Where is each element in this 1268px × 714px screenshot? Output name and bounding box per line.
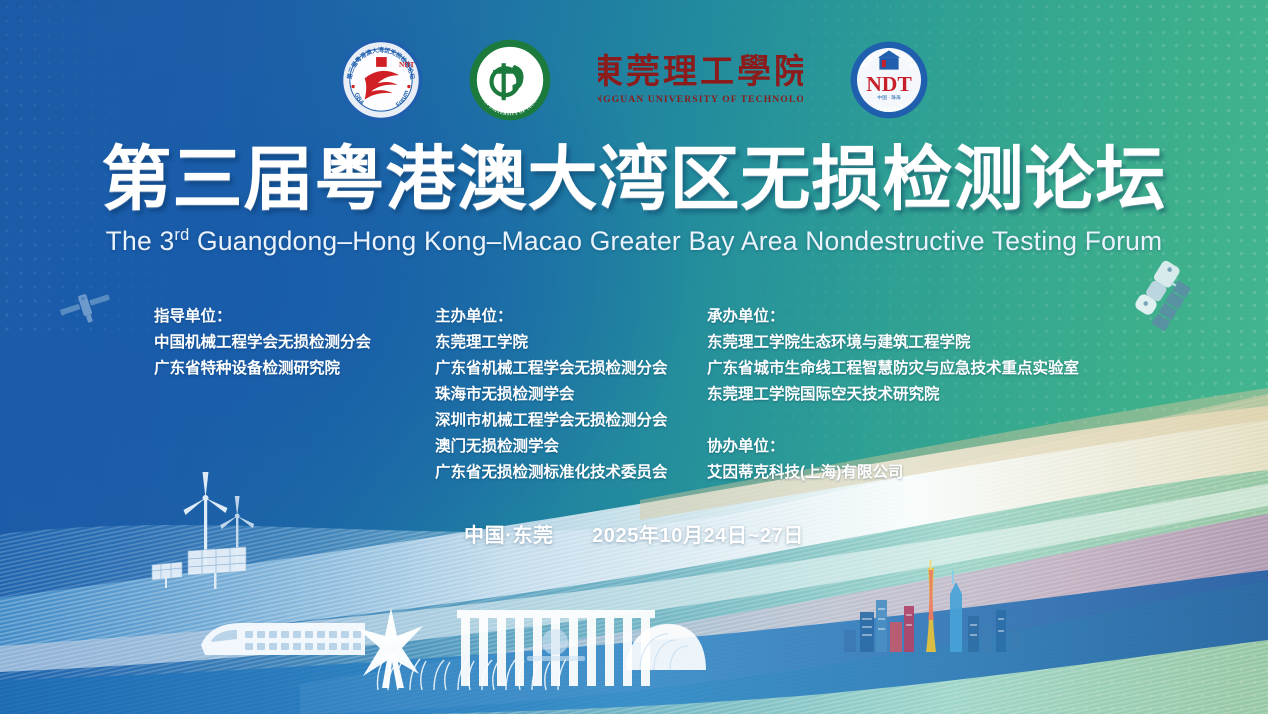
solar-panel-icon — [150, 545, 260, 595]
forum-poster: 第三届粤港澳大湾区无损检测论坛 NDT GBA Forum — [0, 0, 1268, 714]
host-item: 广东省机械工程学会无损检测分会 — [435, 356, 668, 382]
page-title-en: The 3rd Guangdong–Hong Kong–Macao Greate… — [0, 226, 1268, 257]
high-speed-train-icon — [195, 615, 370, 665]
page-title-cn: 第三届粤港澳大湾区无损检测论坛 — [0, 140, 1268, 218]
guidance-item: 中国机械工程学会无损检测分会 — [154, 330, 371, 356]
satellite-icon-right — [1108, 244, 1204, 336]
coorganizer-item: 艾因蒂克科技(上海)有限公司 — [707, 460, 1079, 486]
reeds-decoration — [370, 650, 570, 690]
title-en-ordinal: rd — [174, 227, 189, 245]
logo-gba-ndt-forum: 第三届粤港澳大湾区无损检测论坛 NDT GBA Forum — [340, 39, 422, 121]
title-en-rest: Guangdong–Hong Kong–Macao Greater Bay Ar… — [189, 226, 1162, 256]
svg-text:DONGGUAN UNIVERSITY OF TECHNOL: DONGGUAN UNIVERSITY OF TECHNOLOGY — [598, 94, 803, 105]
column-spacer — [707, 408, 1079, 434]
guidance-heading: 指导单位： — [154, 304, 371, 330]
organizer-item: 东莞理工学院生态环境与建筑工程学院 — [707, 330, 1079, 356]
logo-row: 第三届粤港澳大湾区无损检测论坛 NDT GBA Forum — [0, 36, 1268, 124]
event-location: 中国·东莞 — [464, 525, 554, 547]
event-dates: 2025年10月24日~27日 — [592, 525, 804, 547]
organizer-item: 东莞理工学院国际空天技术研究院 — [707, 382, 1079, 408]
organizer-item: 广东省城市生命线工程智慧防灾与应急技术重点实验室 — [707, 356, 1079, 382]
dgut-seal-icon: 东莞理工学院 DONGGUAN UNIVERSITY OF TECHNOLOGY — [468, 38, 552, 122]
host-item: 广东省无损检测标准化技术委员会 — [435, 460, 668, 486]
zhsndt-seal-icon: 珠海市无损检测学会 ZHSNDT NDT 中国 · 珠海 — [849, 40, 929, 120]
host-item: 东莞理工学院 — [435, 330, 668, 356]
organizations-column-guidance: 指导单位： 中国机械工程学会无损检测分会 广东省特种设备检测研究院 — [154, 304, 371, 382]
host-heading: 主办单位： — [435, 304, 668, 330]
satellite-icon-left — [52, 276, 118, 338]
organizations-column-host: 主办单位： 东莞理工学院 广东省机械工程学会无损检测分会 珠海市无损检测学会 深… — [435, 304, 668, 486]
architecture-silhouette — [455, 610, 685, 688]
city-skyline-silhouette — [838, 560, 1028, 655]
logo-dgut-seal: 东莞理工学院 DONGGUAN UNIVERSITY OF TECHNOLOGY — [468, 38, 552, 122]
dgut-wordmark-icon: 東莞理工學院 DONGGUAN UNIVERSITY OF TECHNOLOGY — [598, 49, 803, 111]
host-item: 澳门无损检测学会 — [435, 434, 668, 460]
host-item: 深圳市机械工程学会无损检测分会 — [435, 408, 668, 434]
coorganizer-heading: 协办单位： — [707, 434, 1079, 460]
title-en-prefix: The 3 — [106, 226, 175, 256]
opera-house-silhouette — [620, 620, 710, 670]
svg-text:東莞理工學院: 東莞理工學院 — [598, 52, 803, 91]
event-meta: 中国·东莞 2025年10月24日~27日 — [0, 519, 1268, 548]
logo-zhsndt-seal: 珠海市无损检测学会 ZHSNDT NDT 中国 · 珠海 — [849, 40, 929, 120]
guidance-item: 广东省特种设备检测研究院 — [154, 356, 371, 382]
organizations-column-organizer: 承办单位： 东莞理工学院生态环境与建筑工程学院 广东省城市生命线工程智慧防灾与应… — [707, 304, 1079, 486]
logo-dgut-wordmark: 東莞理工學院 DONGGUAN UNIVERSITY OF TECHNOLOGY — [598, 49, 803, 111]
title-block: 第三届粤港澳大湾区无损检测论坛 The 3rd Guangdong–Hong K… — [0, 140, 1268, 257]
gba-ndt-forum-seal-icon: 第三届粤港澳大湾区无损检测论坛 NDT GBA Forum — [340, 39, 422, 121]
star-sculpture-icon — [355, 608, 427, 688]
host-item: 珠海市无损检测学会 — [435, 382, 668, 408]
organizer-heading: 承办单位： — [707, 304, 1079, 330]
svg-text:NDT: NDT — [399, 60, 415, 69]
svg-text:NDT: NDT — [866, 72, 912, 96]
